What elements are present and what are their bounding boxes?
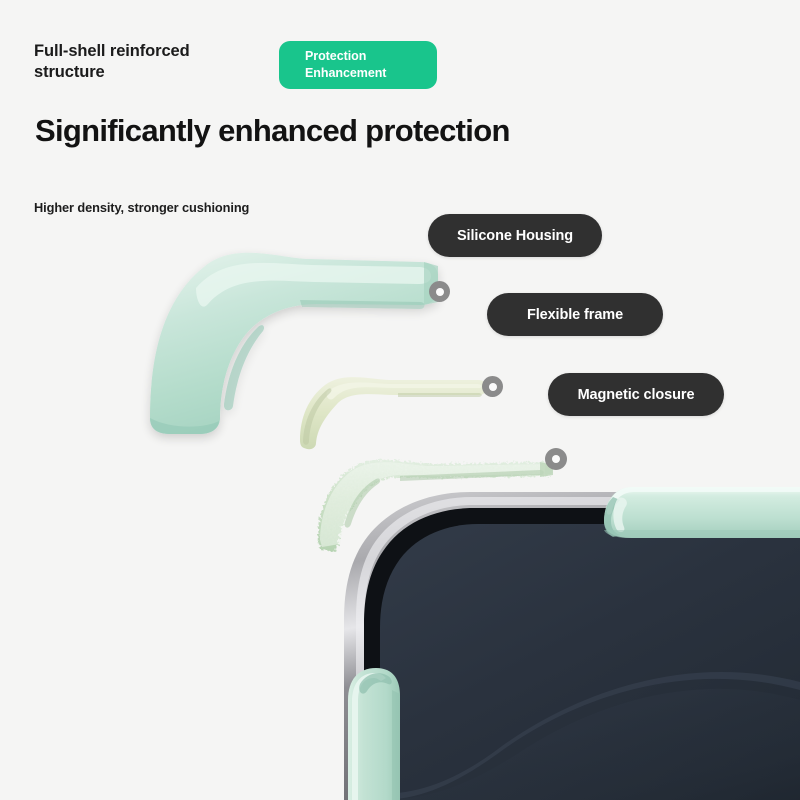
bumper-top-right (604, 487, 800, 538)
bumper-left (348, 668, 400, 800)
protection-enhancement-badge[interactable]: Protection Enhancement (279, 41, 437, 89)
eyebrow-text: Full-shell reinforced structure (34, 41, 264, 83)
page-title: Significantly enhanced protection (35, 113, 510, 149)
infographic-canvas: Full-shell reinforced structure Protecti… (0, 0, 800, 800)
callout-magnetic-closure[interactable]: Magnetic closure (548, 373, 724, 416)
callout-silicone-housing[interactable]: Silicone Housing (428, 214, 602, 257)
flexible-frame-part (300, 377, 487, 449)
device-corner (344, 492, 800, 800)
callout-flexible-frame[interactable]: Flexible frame (487, 293, 663, 336)
silicone-housing-part (150, 253, 438, 434)
subtitle-text: Higher density, stronger cushioning (34, 200, 249, 215)
ring-marker-icon-flexible-frame (482, 376, 503, 397)
ring-marker-icon-magnetic-closure (545, 448, 567, 470)
ring-marker-icon-silicone-housing (429, 281, 450, 302)
